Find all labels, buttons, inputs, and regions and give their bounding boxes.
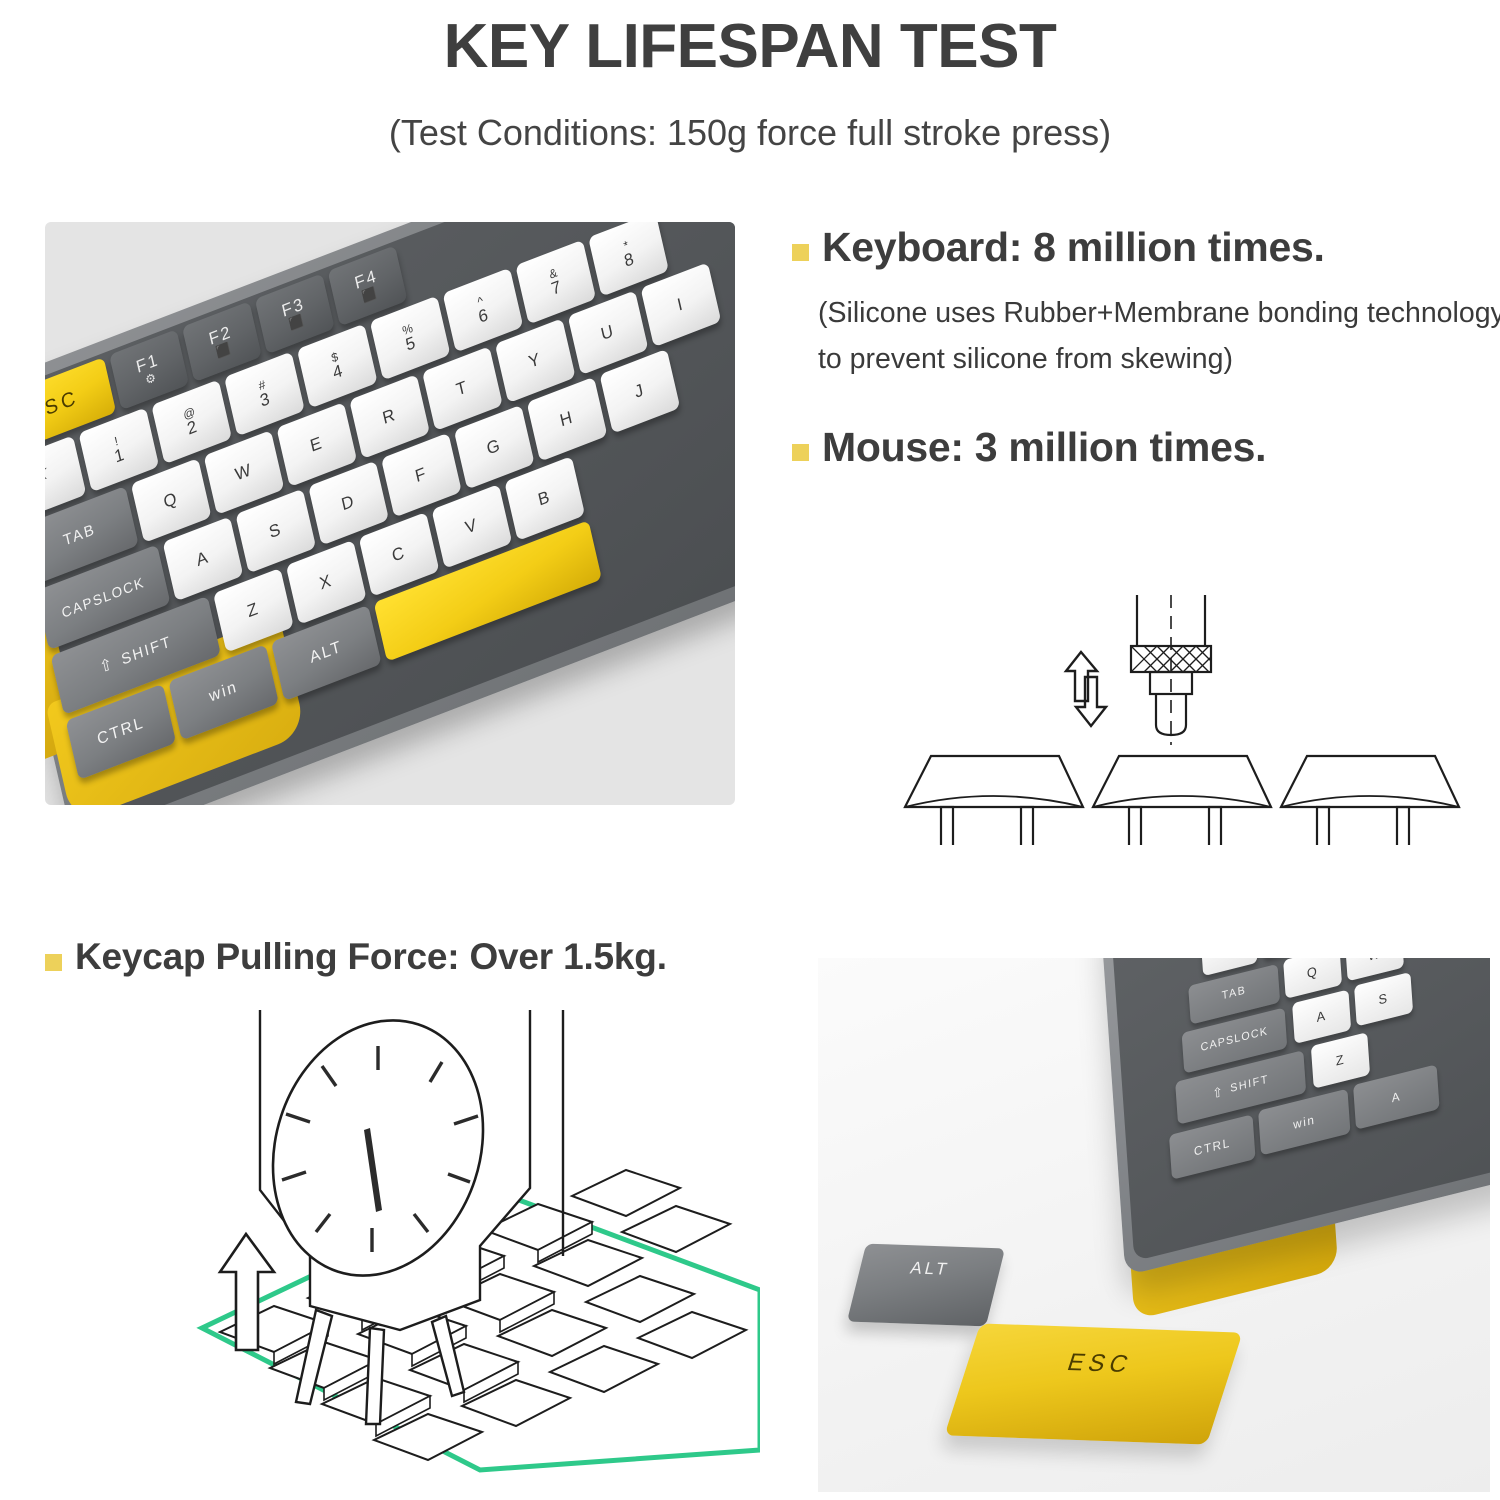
spec-keycap-pull: Keycap Pulling Force: Over 1.5kg. xyxy=(45,936,667,978)
keyboard-photo-bottom-right: ESC F1 ⚙ F2 ⬛ ~ ! @ # TAB Q W CAPSLOCK xyxy=(818,958,1490,1492)
press-test-svg xyxy=(845,595,1490,845)
keycap-center xyxy=(1093,756,1271,845)
gear-icon: ⚙ xyxy=(144,370,158,387)
shift-arrow-icon: ⇧ xyxy=(1212,1085,1225,1102)
up-down-arrow-icon xyxy=(1066,652,1106,726)
keycap-grid-bottom: ESC F1 ⚙ F2 ⬛ ~ ! @ # TAB Q W CAPSLOCK xyxy=(1112,958,1490,1273)
page-title: KEY LIFESPAN TEST xyxy=(0,14,1500,81)
loose-keycap-esc: ESC xyxy=(944,1323,1242,1444)
keycap-4-label: 4 xyxy=(331,361,346,383)
loose-keycap-alt: ALT xyxy=(847,1244,1005,1327)
keycap-1-label: 1 xyxy=(113,445,128,467)
bullet-square-icon xyxy=(45,954,62,971)
keycap-5-label: 5 xyxy=(404,333,419,355)
pull-force-diagram xyxy=(60,1010,760,1490)
bullet-square-icon xyxy=(792,244,809,261)
spec-list: Keyboard: 8 million times. (Silicone use… xyxy=(792,222,1492,472)
keycap-a: A xyxy=(1292,989,1351,1044)
keycap-7-label: 7 xyxy=(550,277,565,299)
keycap-3-label: 3 xyxy=(259,389,274,411)
mouse-lifespan-heading: Mouse: 3 million times. xyxy=(822,422,1266,472)
infographic-page: KEY LIFESPAN TEST (Test Conditions: 150g… xyxy=(0,0,1500,1500)
keycap-right xyxy=(1281,756,1459,845)
keycap-row xyxy=(847,756,1488,845)
volume-down-icon: ⬛ xyxy=(288,313,306,331)
bullet-square-icon xyxy=(792,444,809,461)
keyboard-photo-top-left: ESC F1⚙ F2⬛ F3⬛ F4⬛ ~ ` ! 1 @ 2 # 3 xyxy=(45,222,735,805)
keycap-shift-label: SHIFT xyxy=(120,634,173,669)
spec-keyboard: Keyboard: 8 million times. xyxy=(792,222,1492,272)
volume-up-icon: ⬛ xyxy=(361,286,379,304)
keycap-grid-top: ESC F1⚙ F2⬛ F3⬛ F4⬛ ~ ` ! 1 @ 2 # 3 xyxy=(45,222,735,805)
spec-mouse: Mouse: 3 million times. xyxy=(792,422,1492,472)
press-test-diagram xyxy=(845,595,1490,845)
shift-arrow-icon: ⇧ xyxy=(98,655,116,677)
keycap-8-label: 8 xyxy=(623,250,638,272)
keycap-s: S xyxy=(1354,972,1413,1027)
keycap-2-label: 2 xyxy=(186,417,201,439)
keycap-tilde-label: ` xyxy=(45,474,53,494)
keyboard-render-bottom: ESC F1 ⚙ F2 ⬛ ~ ! @ # TAB Q W CAPSLOCK xyxy=(1100,958,1490,1347)
keycap-left xyxy=(905,756,1083,845)
keyboard-render-top: ESC F1⚙ F2⬛ F3⬛ F4⬛ ~ ` ! 1 @ 2 # 3 xyxy=(45,222,735,805)
keyboard-lifespan-heading: Keyboard: 8 million times. xyxy=(822,222,1325,272)
keycap-ctrl: CTRL xyxy=(1169,1114,1256,1179)
keyboard-lifespan-note: (Silicone uses Rubber+Membrane bonding t… xyxy=(818,290,1500,382)
keycap-removal-scene: ESC F1 ⚙ F2 ⬛ ~ ! @ # TAB Q W CAPSLOCK xyxy=(818,958,1490,1492)
keycap-z: Z xyxy=(1311,1032,1370,1089)
keycap-pull-heading: Keycap Pulling Force: Over 1.5kg. xyxy=(75,936,667,978)
pull-force-svg xyxy=(60,1010,760,1490)
keycap-6-label: 6 xyxy=(477,305,492,327)
page-subtitle: (Test Conditions: 150g force full stroke… xyxy=(0,112,1500,154)
keycap-shift-label: SHIFT xyxy=(1230,1074,1269,1095)
mute-icon: ⬛ xyxy=(215,341,233,359)
